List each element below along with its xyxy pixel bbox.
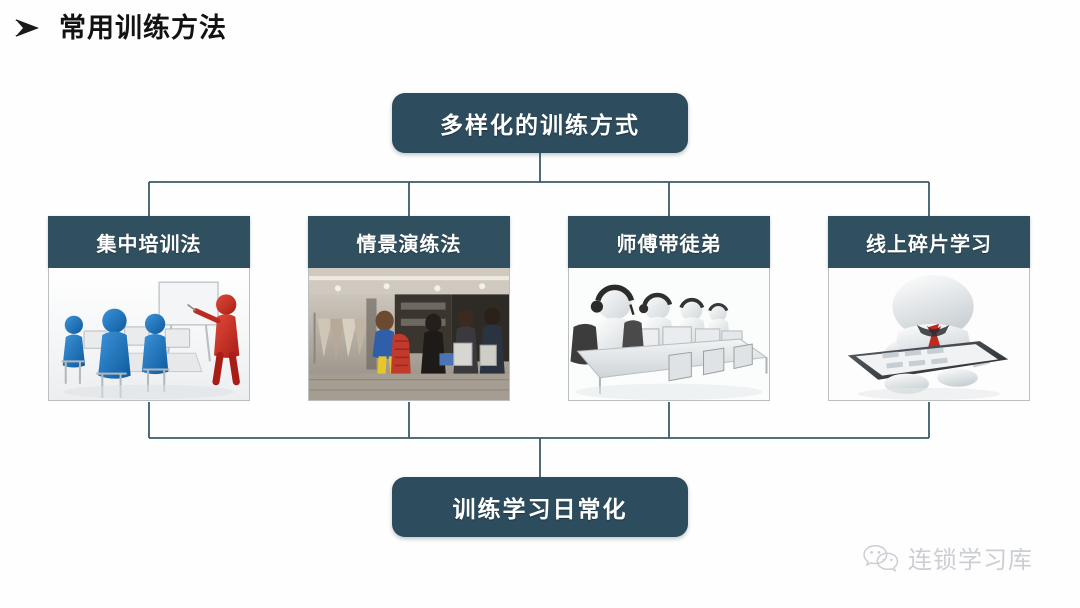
diagram-card-scenario-drill[interactable]: 情景演练法 (308, 216, 510, 401)
diagram-card-master-apprentice[interactable]: 师傅带徒弟 (568, 216, 770, 401)
retail-roleplay-photo (308, 268, 510, 401)
slide-canvas: 常用训练方法 多样化的训练方式 集中培 (0, 0, 1080, 608)
tablet-learning-photo (828, 268, 1030, 401)
card-header: 集中培训法 (48, 216, 250, 268)
card-header: 师傅带徒弟 (568, 216, 770, 268)
page-title: 常用训练方法 (59, 15, 227, 42)
slide-title-row: 常用训练方法 (0, 0, 1080, 56)
card-title: 线上碎片学习 (866, 228, 992, 257)
card-title: 情景演练法 (357, 228, 462, 257)
card-header: 情景演练法 (308, 216, 510, 268)
bottom-node-label: 训练学习日常化 (453, 490, 628, 524)
top-node-label: 多样化的训练方式 (440, 106, 640, 140)
wechat-bubbles-icon (862, 542, 900, 574)
card-title: 集中培训法 (97, 228, 202, 257)
classroom-training-photo (48, 268, 250, 401)
diagram-top-node[interactable]: 多样化的训练方式 (392, 93, 688, 153)
card-title: 师傅带徒弟 (617, 228, 722, 257)
diagram-card-online-learning[interactable]: 线上碎片学习 (828, 216, 1030, 401)
card-header: 线上碎片学习 (828, 216, 1030, 268)
diagram-card-centralized-training[interactable]: 集中培训法 (48, 216, 250, 401)
call-center-mentoring-photo (568, 268, 770, 401)
arrow-right-bullet-icon (12, 13, 42, 43)
watermark-text: 连锁学习库 (908, 540, 1033, 575)
watermark: 连锁学习库 (862, 540, 1033, 575)
diagram-bottom-node[interactable]: 训练学习日常化 (392, 477, 688, 537)
